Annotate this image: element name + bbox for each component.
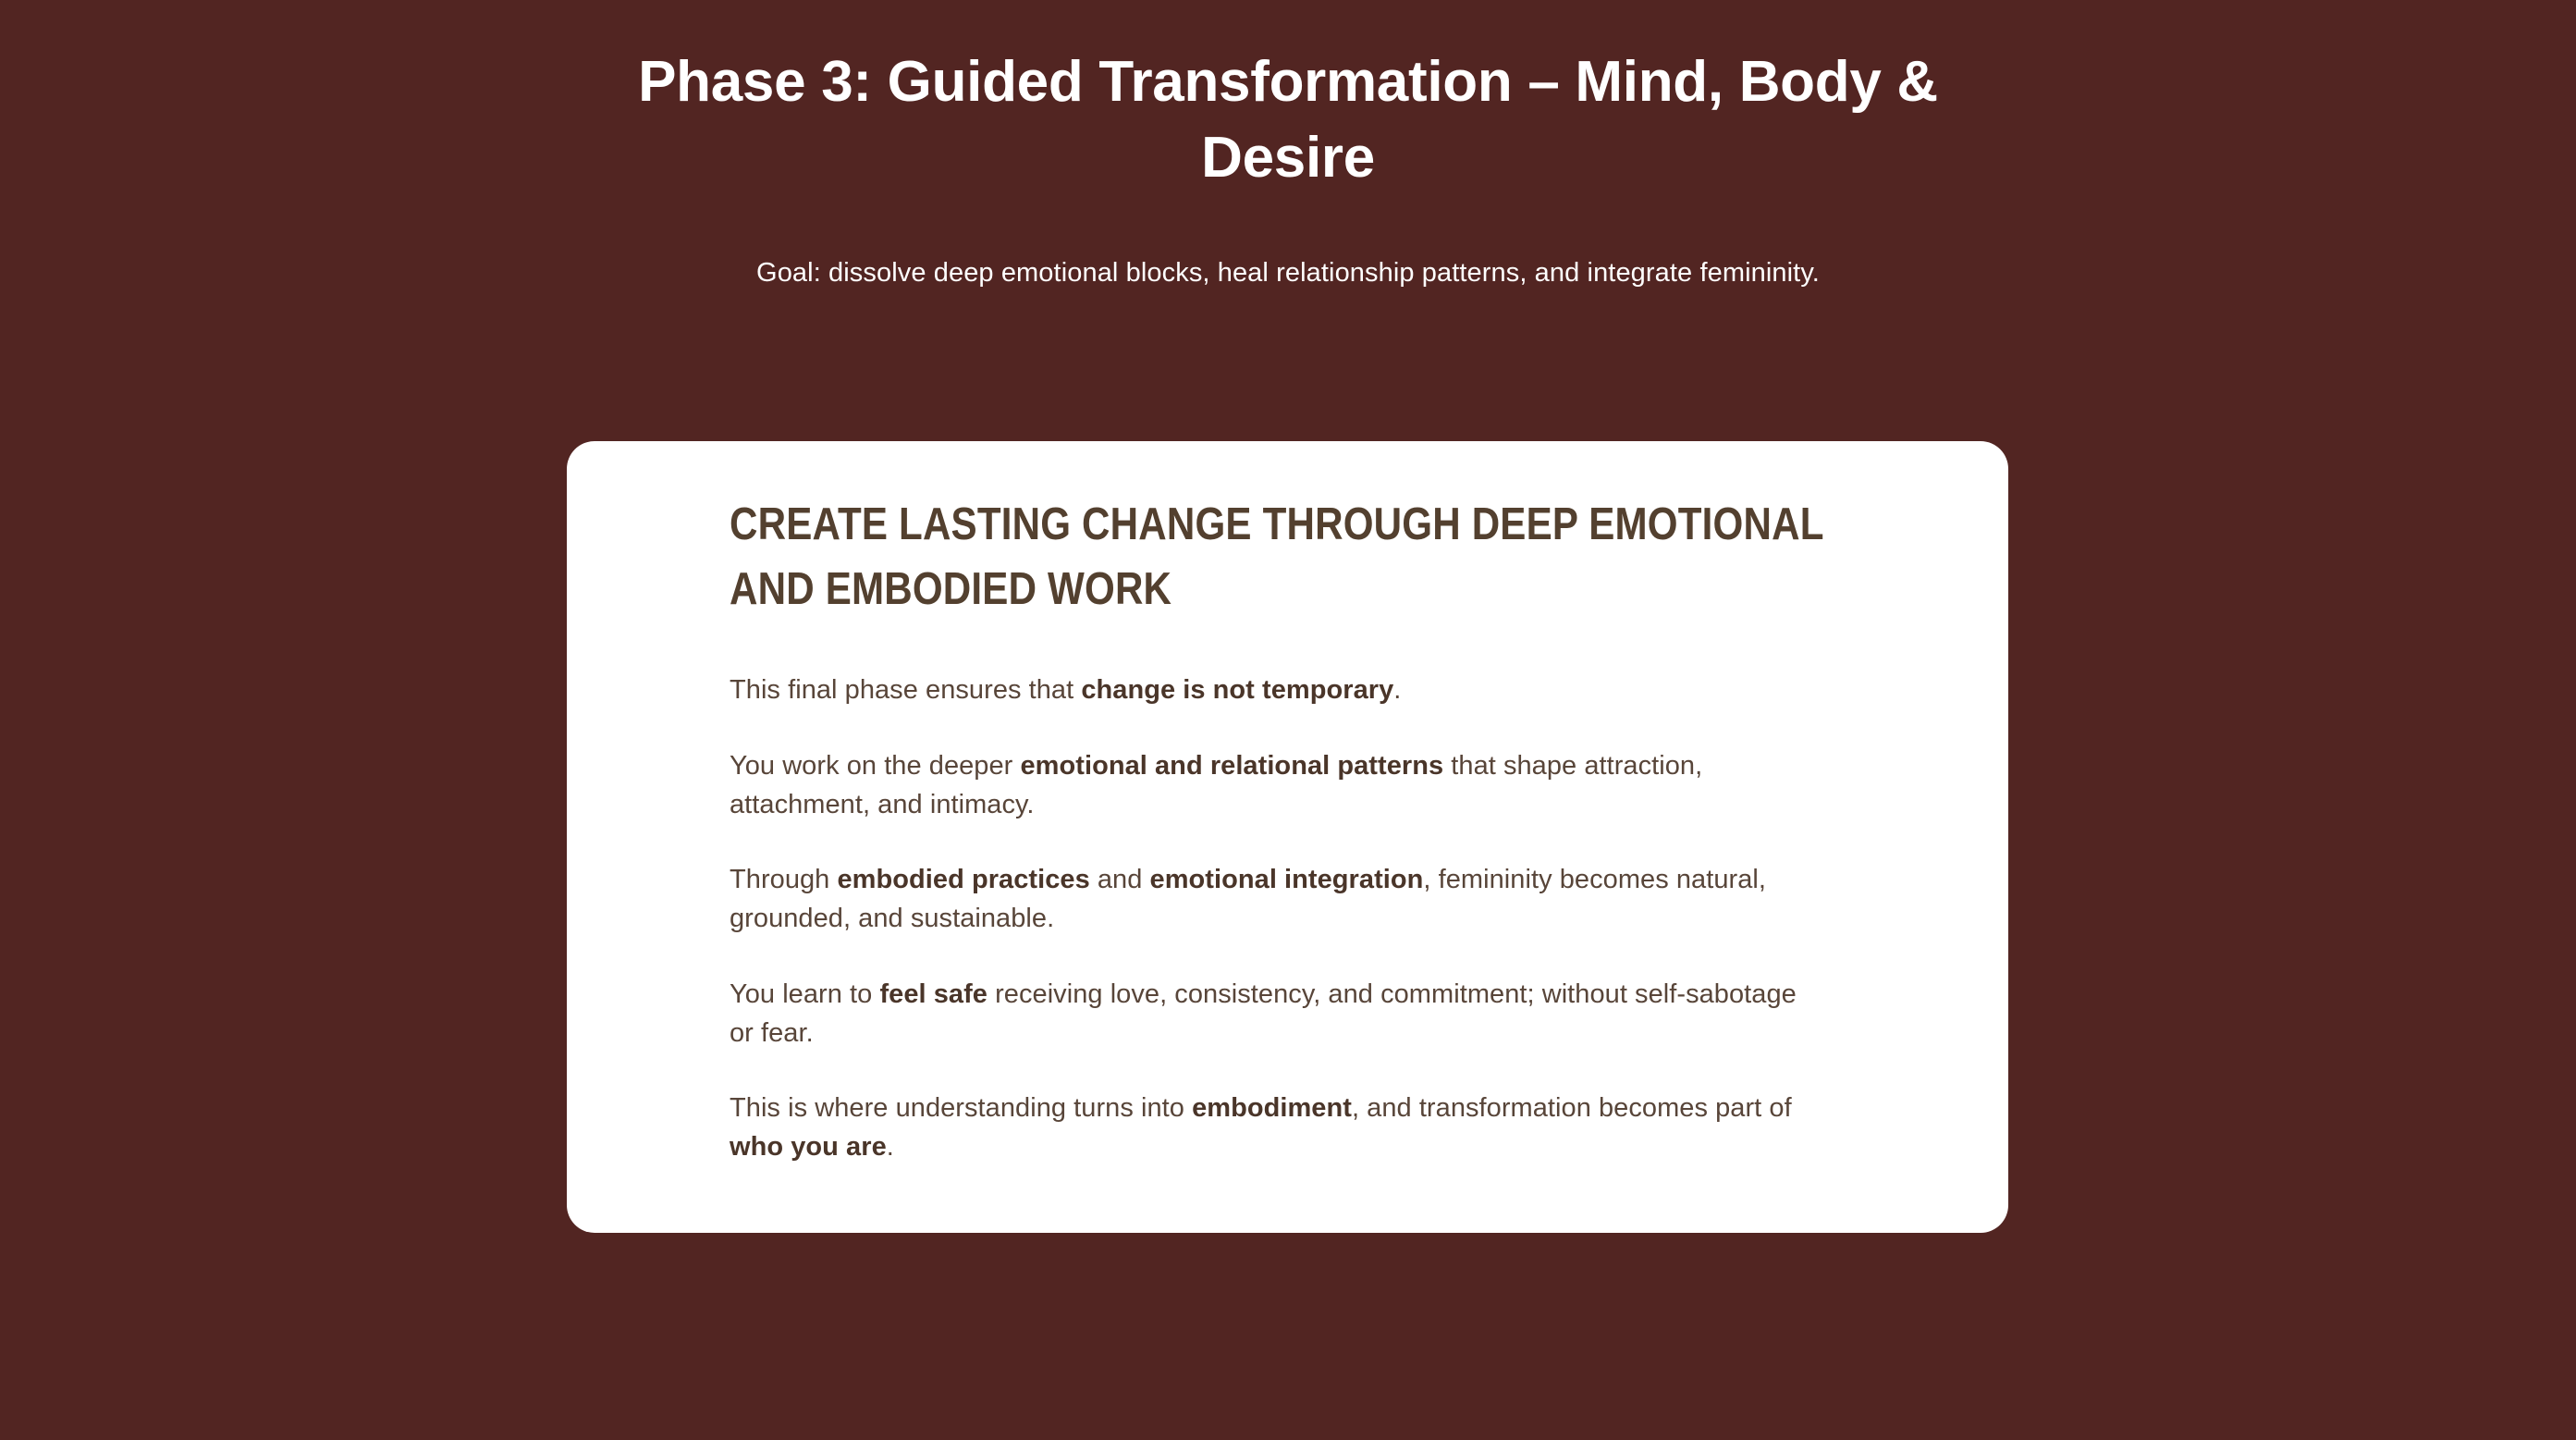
body-text: . <box>887 1132 894 1162</box>
paragraph-change-not-temporary: This final phase ensures that change is … <box>730 671 1821 710</box>
emphasis-text: emotional and relational patterns <box>1020 751 1443 781</box>
emphasis-text: who you are <box>730 1132 887 1162</box>
paragraph-feel-safe: You learn to feel safe receiving love, c… <box>730 976 1821 1053</box>
emphasis-text: change is not temporary <box>1081 675 1393 705</box>
body-text: . <box>1393 675 1401 705</box>
body-text: This is where understanding turns into <box>730 1093 1192 1123</box>
emphasis-text: emotional integration <box>1150 865 1424 894</box>
card-body: This final phase ensures that change is … <box>730 671 1846 1167</box>
page-title: Phase 3: Guided Transformation – Mind, B… <box>567 44 2009 196</box>
body-text: You work on the deeper <box>730 751 1020 781</box>
content-card: Create Lasting Change Through Deep Emoti… <box>567 441 2008 1233</box>
page-header: Phase 3: Guided Transformation – Mind, B… <box>0 0 2576 292</box>
emphasis-text: feel safe <box>879 979 987 1009</box>
card-heading: Create Lasting Change Through Deep Emoti… <box>730 493 1843 622</box>
body-text: This final phase ensures that <box>730 675 1081 705</box>
emphasis-text: embodiment <box>1192 1093 1352 1123</box>
body-text: Through <box>730 865 837 894</box>
paragraph-emotional-relational-patterns: You work on the deeper emotional and rel… <box>730 747 1821 825</box>
body-text: and <box>1090 865 1150 894</box>
body-text: , and transformation becomes part of <box>1352 1093 1792 1123</box>
page-root: Phase 3: Guided Transformation – Mind, B… <box>0 0 2576 1440</box>
page-subtitle-goal: Goal: dissolve deep emotional blocks, he… <box>502 253 2074 292</box>
body-text: You learn to <box>730 979 879 1009</box>
paragraph-embodied-practices: Through embodied practices and emotional… <box>730 861 1821 939</box>
emphasis-text: embodied practices <box>837 865 1089 894</box>
paragraph-embodiment: This is where understanding turns into e… <box>730 1089 1821 1167</box>
